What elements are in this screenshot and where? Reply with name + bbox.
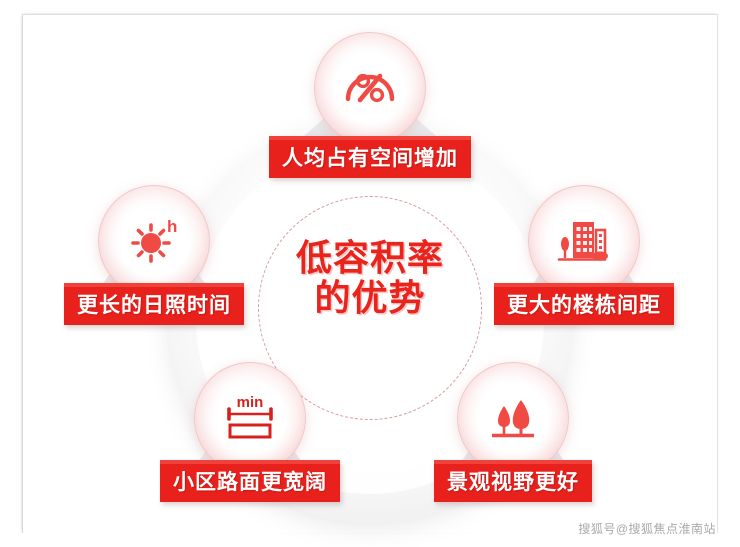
node-label-banner[interactable]: 人均占有空间增加 (269, 136, 471, 178)
node-label-banner[interactable]: 景观视野更好 (434, 460, 592, 502)
node-building-spacing[interactable]: 更大的楼栋间距 (476, 185, 692, 345)
icon-bubble (457, 362, 569, 474)
percent-gauge-icon (339, 57, 401, 119)
icon-bubble (314, 32, 426, 144)
node-label-banner[interactable]: 小区路面更宽阔 (160, 460, 340, 502)
watermark: 搜狐号@搜狐焦点淮南站 (578, 520, 716, 537)
icon-bubble: min (194, 362, 306, 474)
icon-bubble (528, 185, 640, 297)
center-title: 低容积率 的优势 (258, 238, 482, 318)
node-road-width[interactable]: min 小区路面更宽阔 (137, 362, 363, 522)
infographic-stage: 低容积率 的优势 人均占有空间增加 (0, 0, 740, 547)
svg-text:h: h (167, 217, 177, 236)
node-label-banner[interactable]: 更长的日照时间 (64, 283, 244, 325)
node-landscape-view[interactable]: 景观视野更好 (406, 362, 620, 522)
sun-hours-icon: h (123, 210, 185, 272)
min-width-ruler-icon: min (219, 387, 281, 449)
svg-text:min: min (237, 394, 264, 411)
icon-bubble: h (98, 185, 210, 297)
node-per-capita-space[interactable]: 人均占有空间增加 (259, 32, 481, 202)
two-trees-icon (482, 387, 544, 449)
node-sunlight-hours[interactable]: h 更长的日照时间 (46, 185, 262, 345)
infographic-page: 低容积率 的优势 人均占有空间增加 (0, 0, 740, 547)
node-label-banner[interactable]: 更大的楼栋间距 (494, 283, 674, 325)
buildings-tree-icon (553, 210, 615, 272)
